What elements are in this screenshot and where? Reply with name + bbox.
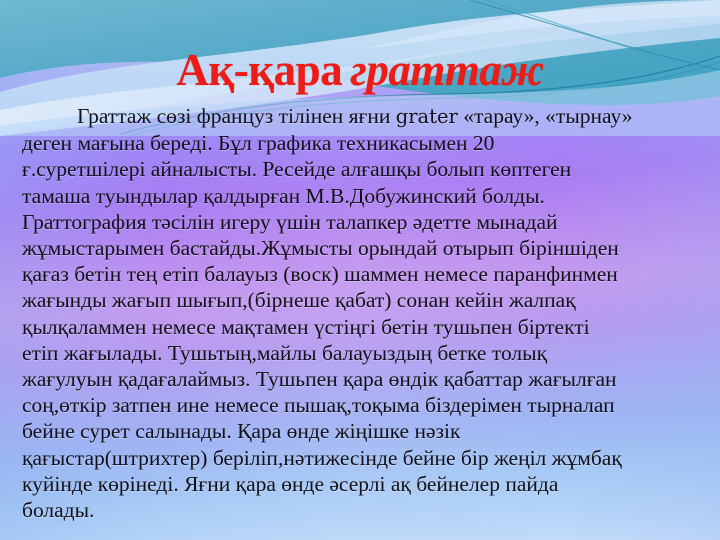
body-line: жұмыстарымен бастайды.Жұмысты орындай от… bbox=[22, 235, 698, 261]
body-line: соң,өткір затпен ине немесе пышақ,тоқыма… bbox=[22, 392, 698, 418]
body-line: Граттография тәсілін игеру үшін талапкер… bbox=[22, 209, 698, 235]
body-line: жағынды жағып шығып,(бірнеше қабат) сона… bbox=[22, 287, 698, 313]
body-line: бейне сурет салынады. Қара өнде жіңішке … bbox=[22, 418, 698, 444]
body-line: тамаша туындылар қалдырған М.В.Добужинск… bbox=[22, 183, 698, 209]
body-line: қағыстар(штрихтер) беріліп,нәтижесінде б… bbox=[22, 445, 698, 471]
body-line: Граттаж сөзі француз тілінен яғни grater… bbox=[22, 103, 698, 130]
body-line: жағулуын қадағалаймыз. Тушьпен қара өнді… bbox=[22, 366, 698, 392]
presentation-slide: Ақ-қараграттаж Граттаж сөзі француз тілі… bbox=[0, 0, 720, 540]
body-line: болады. bbox=[22, 497, 698, 523]
body-line: куйінде көрінеді. Яғни қара өнде әсерлі … bbox=[22, 471, 698, 497]
body-line: ғ.суретшілері айналысты. Ресейде алғашқы… bbox=[22, 156, 698, 182]
body-line: қағаз бетін тең етіп балауыз (воск) шамм… bbox=[22, 261, 698, 287]
latin-term: grater bbox=[396, 105, 458, 128]
body-line: қылқаламмен немесе мақтамен үстіңгі беті… bbox=[22, 314, 698, 340]
body-line: етіп жағылады. Тушьтың,майлы балауыздың … bbox=[22, 340, 698, 366]
body-line: деген мағына береді. Бұл графика техника… bbox=[22, 130, 698, 156]
slide-body-text: Граттаж сөзі француз тілінен яғни grater… bbox=[22, 103, 698, 523]
